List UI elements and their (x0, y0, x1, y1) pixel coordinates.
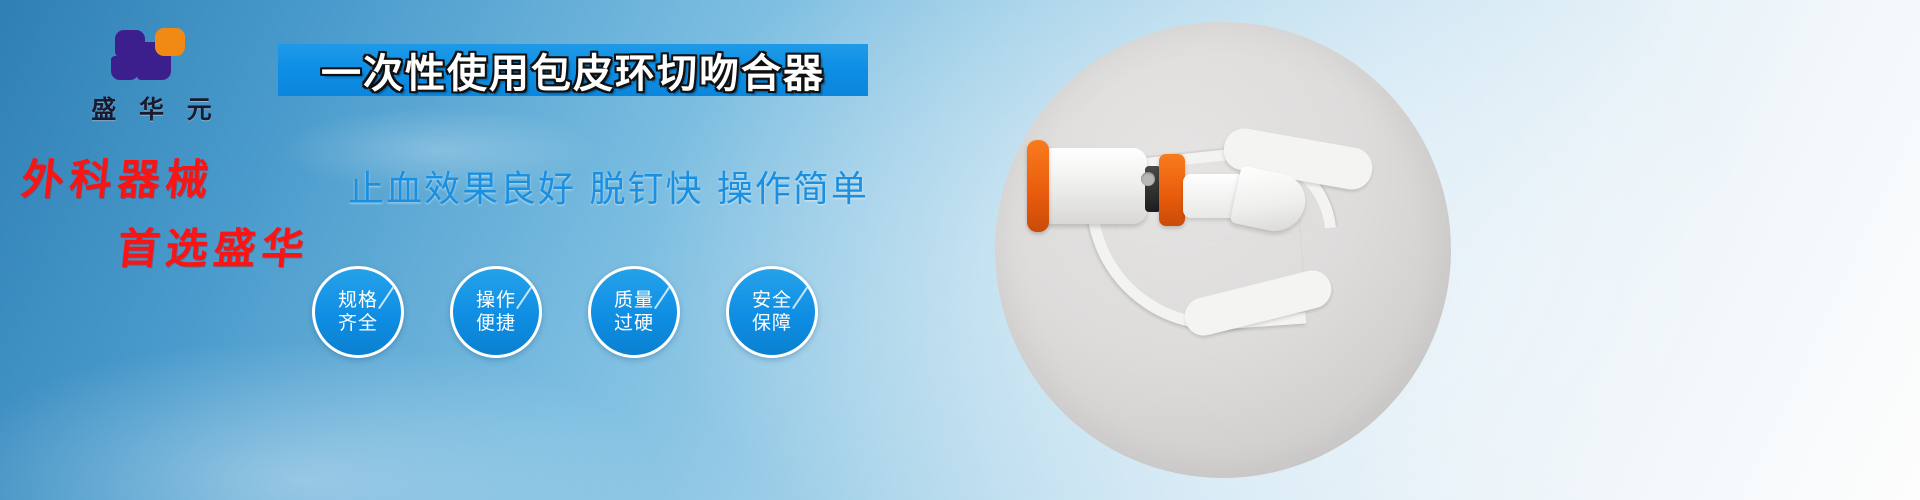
feature-badge-4-line2: 保障 (752, 312, 792, 335)
page-title: 一次性使用包皮环切吻合器 (321, 41, 825, 99)
feature-badge-2-line1: 操作 (476, 289, 516, 312)
feature-badge-3-line2: 过硬 (614, 312, 654, 335)
device-orange-collar (1159, 154, 1185, 226)
feature-badge-2-line2: 便捷 (476, 312, 516, 335)
feature-badge-1-line2: 齐全 (338, 312, 378, 335)
feature-badge-4[interactable]: 安全 保障 (726, 266, 818, 358)
product-subtitle: 止血效果良好 脱钉快 操作简单 (348, 160, 1048, 212)
logo-blocks-icon (107, 26, 203, 82)
feature-badge-list: 规格 齐全 操作 便捷 质量 过硬 安全 保障 (312, 266, 818, 358)
product-photo (995, 22, 1451, 478)
feature-badge-1[interactable]: 规格 齐全 (312, 266, 404, 358)
feature-badge-1-line1: 规格 (338, 289, 378, 312)
feature-badge-2[interactable]: 操作 便捷 (450, 266, 542, 358)
slogan-calligraphy: 外科器械 首选盛华 (22, 146, 352, 256)
device-orange-cap (1027, 140, 1049, 232)
device-barrel (1039, 148, 1147, 224)
product-title-bar: 一次性使用包皮环切吻合器 (278, 44, 868, 96)
feature-badge-3[interactable]: 质量 过硬 (588, 266, 680, 358)
logo-block-orange (155, 28, 185, 56)
feature-badge-3-line1: 质量 (614, 289, 654, 312)
promo-banner: 盛 华 元 一次性使用包皮环切吻合器 外科器械 首选盛华 止血效果良好 脱钉快 … (0, 0, 1920, 500)
brand-name: 盛 华 元 (60, 90, 250, 126)
logo-block-purple-bottom (111, 56, 139, 80)
brand-logo[interactable]: 盛 华 元 (60, 26, 250, 126)
feature-badge-4-line1: 安全 (752, 289, 792, 312)
slogan-line-1: 外科器械 (19, 146, 355, 207)
device-pivot (1141, 172, 1155, 186)
